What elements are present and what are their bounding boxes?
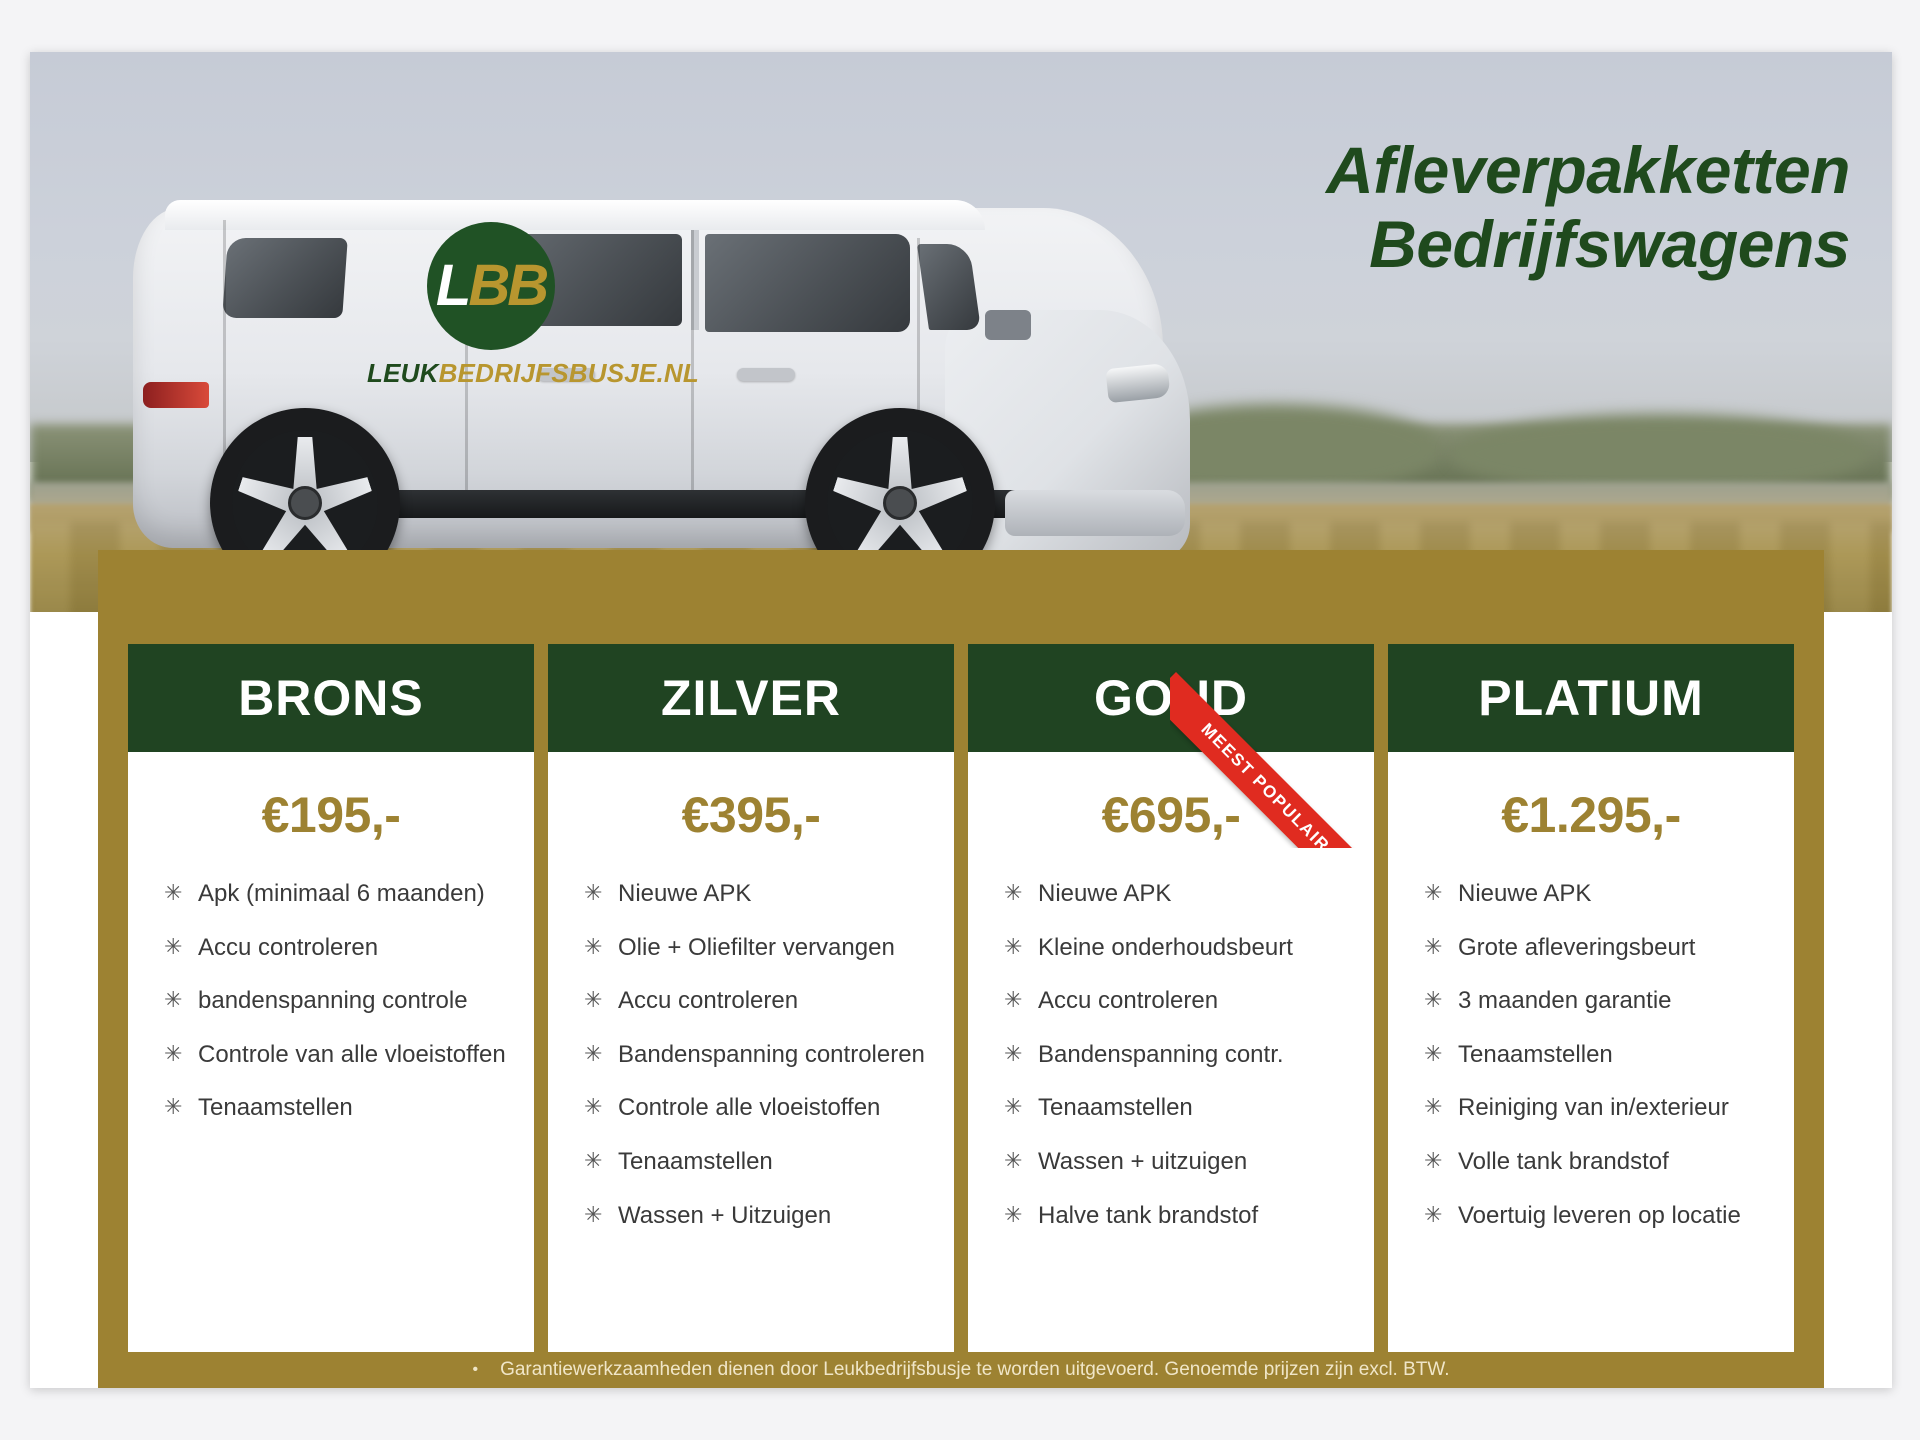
pricing-card-brons[interactable]: BRONS€195,-✳Apk (minimaal 6 maanden)✳Acc… [128, 644, 534, 1352]
brand-url-part1: LEUK [367, 358, 439, 388]
headline-line-2: Bedrijfswagens [1326, 208, 1850, 282]
van-roof [165, 200, 985, 230]
feature-label: Nieuwe APK [1458, 880, 1591, 908]
feature-label: Accu controleren [1038, 987, 1218, 1015]
feature-item: ✳Wassen + Uitzuigen [584, 1202, 936, 1230]
feature-label: Accu controleren [618, 987, 798, 1015]
feature-label: Accu controleren [198, 934, 378, 962]
feature-label: Kleine onderhoudsbeurt [1038, 934, 1293, 962]
card-body: €695,-✳Nieuwe APK✳Kleine onderhoudsbeurt… [968, 752, 1374, 1352]
card-header: BRONS [128, 644, 534, 752]
card-body: €195,-✳Apk (minimaal 6 maanden)✳Accu con… [128, 752, 534, 1352]
feature-item: ✳Tenaamstellen [1004, 1094, 1356, 1122]
feature-item: ✳Tenaamstellen [584, 1148, 936, 1176]
asterisk-bullet-icon: ✳ [584, 1148, 618, 1174]
asterisk-bullet-icon: ✳ [1424, 1094, 1458, 1120]
feature-label: bandenspanning controle [198, 987, 468, 1015]
feature-label: Nieuwe APK [1038, 880, 1171, 908]
package-price: €1.295,- [1388, 786, 1794, 844]
asterisk-bullet-icon: ✳ [1424, 1202, 1458, 1228]
feature-item: ✳Accu controleren [164, 934, 516, 962]
brand-url: LEUKBEDRIJFSBUSJE.NL [367, 358, 699, 389]
asterisk-bullet-icon: ✳ [1424, 1041, 1458, 1067]
feature-label: Nieuwe APK [618, 880, 751, 908]
feature-label: Grote afleveringsbeurt [1458, 934, 1695, 962]
feature-item: ✳Volle tank brandstof [1424, 1148, 1776, 1176]
feature-label: Tenaamstellen [1038, 1094, 1193, 1122]
card-header: PLATIUM [1388, 644, 1794, 752]
lbb-logo: LBB [427, 222, 555, 350]
feature-item: ✳Grote afleveringsbeurt [1424, 934, 1776, 962]
card-header: GOUD [968, 644, 1374, 752]
feature-label: Wassen + Uitzuigen [618, 1202, 831, 1230]
package-price: €695,- [968, 786, 1374, 844]
asterisk-bullet-icon: ✳ [1004, 880, 1038, 906]
footer-text: Garantiewerkzaamheden dienen door Leukbe… [500, 1359, 1449, 1381]
brand-url-part2: BEDRIJFSBUSJE.NL [439, 358, 699, 388]
wheel-hub [288, 486, 322, 520]
feature-label: Reiniging van in/exterieur [1458, 1094, 1729, 1122]
feature-list: ✳Nieuwe APK✳Olie + Oliefilter vervangen✳… [548, 880, 954, 1229]
feature-item: ✳bandenspanning controle [164, 987, 516, 1015]
hero-image: LBB LEUKBEDRIJFSBUSJE.NL Afleverpakkette… [30, 52, 1892, 612]
asterisk-bullet-icon: ✳ [1004, 1148, 1038, 1174]
feature-item: ✳Nieuwe APK [1004, 880, 1356, 908]
asterisk-bullet-icon: ✳ [1004, 1202, 1038, 1228]
feature-label: Wassen + uitzuigen [1038, 1148, 1247, 1176]
asterisk-bullet-icon: ✳ [584, 934, 618, 960]
feature-item: ✳Olie + Oliefilter vervangen [584, 934, 936, 962]
wheel-hub [883, 486, 917, 520]
asterisk-bullet-icon: ✳ [1004, 934, 1038, 960]
asterisk-bullet-icon: ✳ [1424, 934, 1458, 960]
page-title: Afleverpakketten Bedrijfswagens [1326, 134, 1850, 282]
feature-list: ✳Nieuwe APK✳Kleine onderhoudsbeurt✳Accu … [968, 880, 1374, 1229]
package-name: ZILVER [661, 669, 841, 727]
pricing-card-platium[interactable]: PLATIUM€1.295,-✳Nieuwe APK✳Grote aflever… [1388, 644, 1794, 1352]
feature-label: Halve tank brandstof [1038, 1202, 1258, 1230]
pricing-card-zilver[interactable]: ZILVER€395,-✳Nieuwe APK✳Olie + Oliefilte… [548, 644, 954, 1352]
package-name: BRONS [238, 669, 424, 727]
feature-label: Tenaamstellen [198, 1094, 353, 1122]
asterisk-bullet-icon: ✳ [164, 934, 198, 960]
asterisk-bullet-icon: ✳ [164, 987, 198, 1013]
feature-item: ✳Controle van alle vloeistoffen [164, 1041, 516, 1069]
asterisk-bullet-icon: ✳ [584, 1094, 618, 1120]
van-rear-window [222, 238, 348, 318]
feature-label: Controle alle vloeistoffen [618, 1094, 880, 1122]
feature-item: ✳Bandenspanning controleren [584, 1041, 936, 1069]
package-name: GOUD [1094, 669, 1248, 727]
feature-label: Tenaamstellen [618, 1148, 773, 1176]
asterisk-bullet-icon: ✳ [1424, 880, 1458, 906]
feature-item: ✳Kleine onderhoudsbeurt [1004, 934, 1356, 962]
feature-item: ✳Wassen + uitzuigen [1004, 1148, 1356, 1176]
feature-label: Bandenspanning contr. [1038, 1041, 1284, 1069]
asterisk-bullet-icon: ✳ [164, 1041, 198, 1067]
headline-line-1: Afleverpakketten [1326, 134, 1850, 208]
feature-item: ✳Halve tank brandstof [1004, 1202, 1356, 1230]
package-price: €395,- [548, 786, 954, 844]
feature-item: ✳Accu controleren [584, 987, 936, 1015]
asterisk-bullet-icon: ✳ [164, 1094, 198, 1120]
asterisk-bullet-icon: ✳ [1004, 1094, 1038, 1120]
feature-label: Volle tank brandstof [1458, 1148, 1669, 1176]
van-door-handle [737, 368, 795, 381]
package-name: PLATIUM [1478, 669, 1703, 727]
poster-frame: LBB LEUKBEDRIJFSBUSJE.NL Afleverpakkette… [30, 52, 1892, 1388]
feature-label: Controle van alle vloeistoffen [198, 1041, 506, 1069]
feature-item: ✳Bandenspanning contr. [1004, 1041, 1356, 1069]
feature-item: ✳Accu controleren [1004, 987, 1356, 1015]
asterisk-bullet-icon: ✳ [584, 1041, 618, 1067]
card-body: €1.295,-✳Nieuwe APK✳Grote afleveringsbeu… [1388, 752, 1794, 1352]
feature-item: ✳Tenaamstellen [1424, 1041, 1776, 1069]
feature-item: ✳Tenaamstellen [164, 1094, 516, 1122]
footer-bullet-icon: • [472, 1361, 478, 1379]
feature-item: ✳3 maanden garantie [1424, 987, 1776, 1015]
feature-label: Apk (minimaal 6 maanden) [198, 880, 485, 908]
van-taillamp [143, 382, 209, 408]
asterisk-bullet-icon: ✳ [1424, 1148, 1458, 1174]
feature-list: ✳Apk (minimaal 6 maanden)✳Accu controler… [128, 880, 534, 1122]
feature-label: 3 maanden garantie [1458, 987, 1672, 1015]
asterisk-bullet-icon: ✳ [1004, 987, 1038, 1013]
feature-item: ✳Reiniging van in/exterieur [1424, 1094, 1776, 1122]
van-front-window [705, 234, 910, 332]
asterisk-bullet-icon: ✳ [584, 1202, 618, 1228]
feature-label: Tenaamstellen [1458, 1041, 1613, 1069]
card-header: ZILVER [548, 644, 954, 752]
van-front-bumper [1005, 490, 1185, 536]
pricing-cards: BRONS€195,-✳Apk (minimaal 6 maanden)✳Acc… [128, 644, 1794, 1352]
van-illustration: LBB LEUKBEDRIJFSBUSJE.NL [105, 160, 1220, 610]
asterisk-bullet-icon: ✳ [1424, 987, 1458, 1013]
feature-item: ✳Nieuwe APK [1424, 880, 1776, 908]
van-mirror [985, 310, 1031, 340]
logo-letter-bb: BB [468, 253, 546, 318]
asterisk-bullet-icon: ✳ [1004, 1041, 1038, 1067]
asterisk-bullet-icon: ✳ [584, 987, 618, 1013]
package-price: €195,- [128, 786, 534, 844]
feature-item: ✳Nieuwe APK [584, 880, 936, 908]
feature-item: ✳Controle alle vloeistoffen [584, 1094, 936, 1122]
asterisk-bullet-icon: ✳ [164, 880, 198, 906]
feature-label: Voertuig leveren op locatie [1458, 1202, 1741, 1230]
feature-item: ✳Voertuig leveren op locatie [1424, 1202, 1776, 1230]
footer-disclaimer: • Garantiewerkzaamheden dienen door Leuk… [98, 1352, 1824, 1388]
feature-label: Bandenspanning controleren [618, 1041, 925, 1069]
logo-letter-l: L [436, 253, 468, 318]
pricing-card-goud[interactable]: GOUD€695,-✳Nieuwe APK✳Kleine onderhoudsb… [968, 644, 1374, 1352]
asterisk-bullet-icon: ✳ [584, 880, 618, 906]
feature-label: Olie + Oliefilter vervangen [618, 934, 895, 962]
card-body: €395,-✳Nieuwe APK✳Olie + Oliefilter verv… [548, 752, 954, 1352]
feature-item: ✳Apk (minimaal 6 maanden) [164, 880, 516, 908]
feature-list: ✳Nieuwe APK✳Grote afleveringsbeurt✳3 maa… [1388, 880, 1794, 1229]
